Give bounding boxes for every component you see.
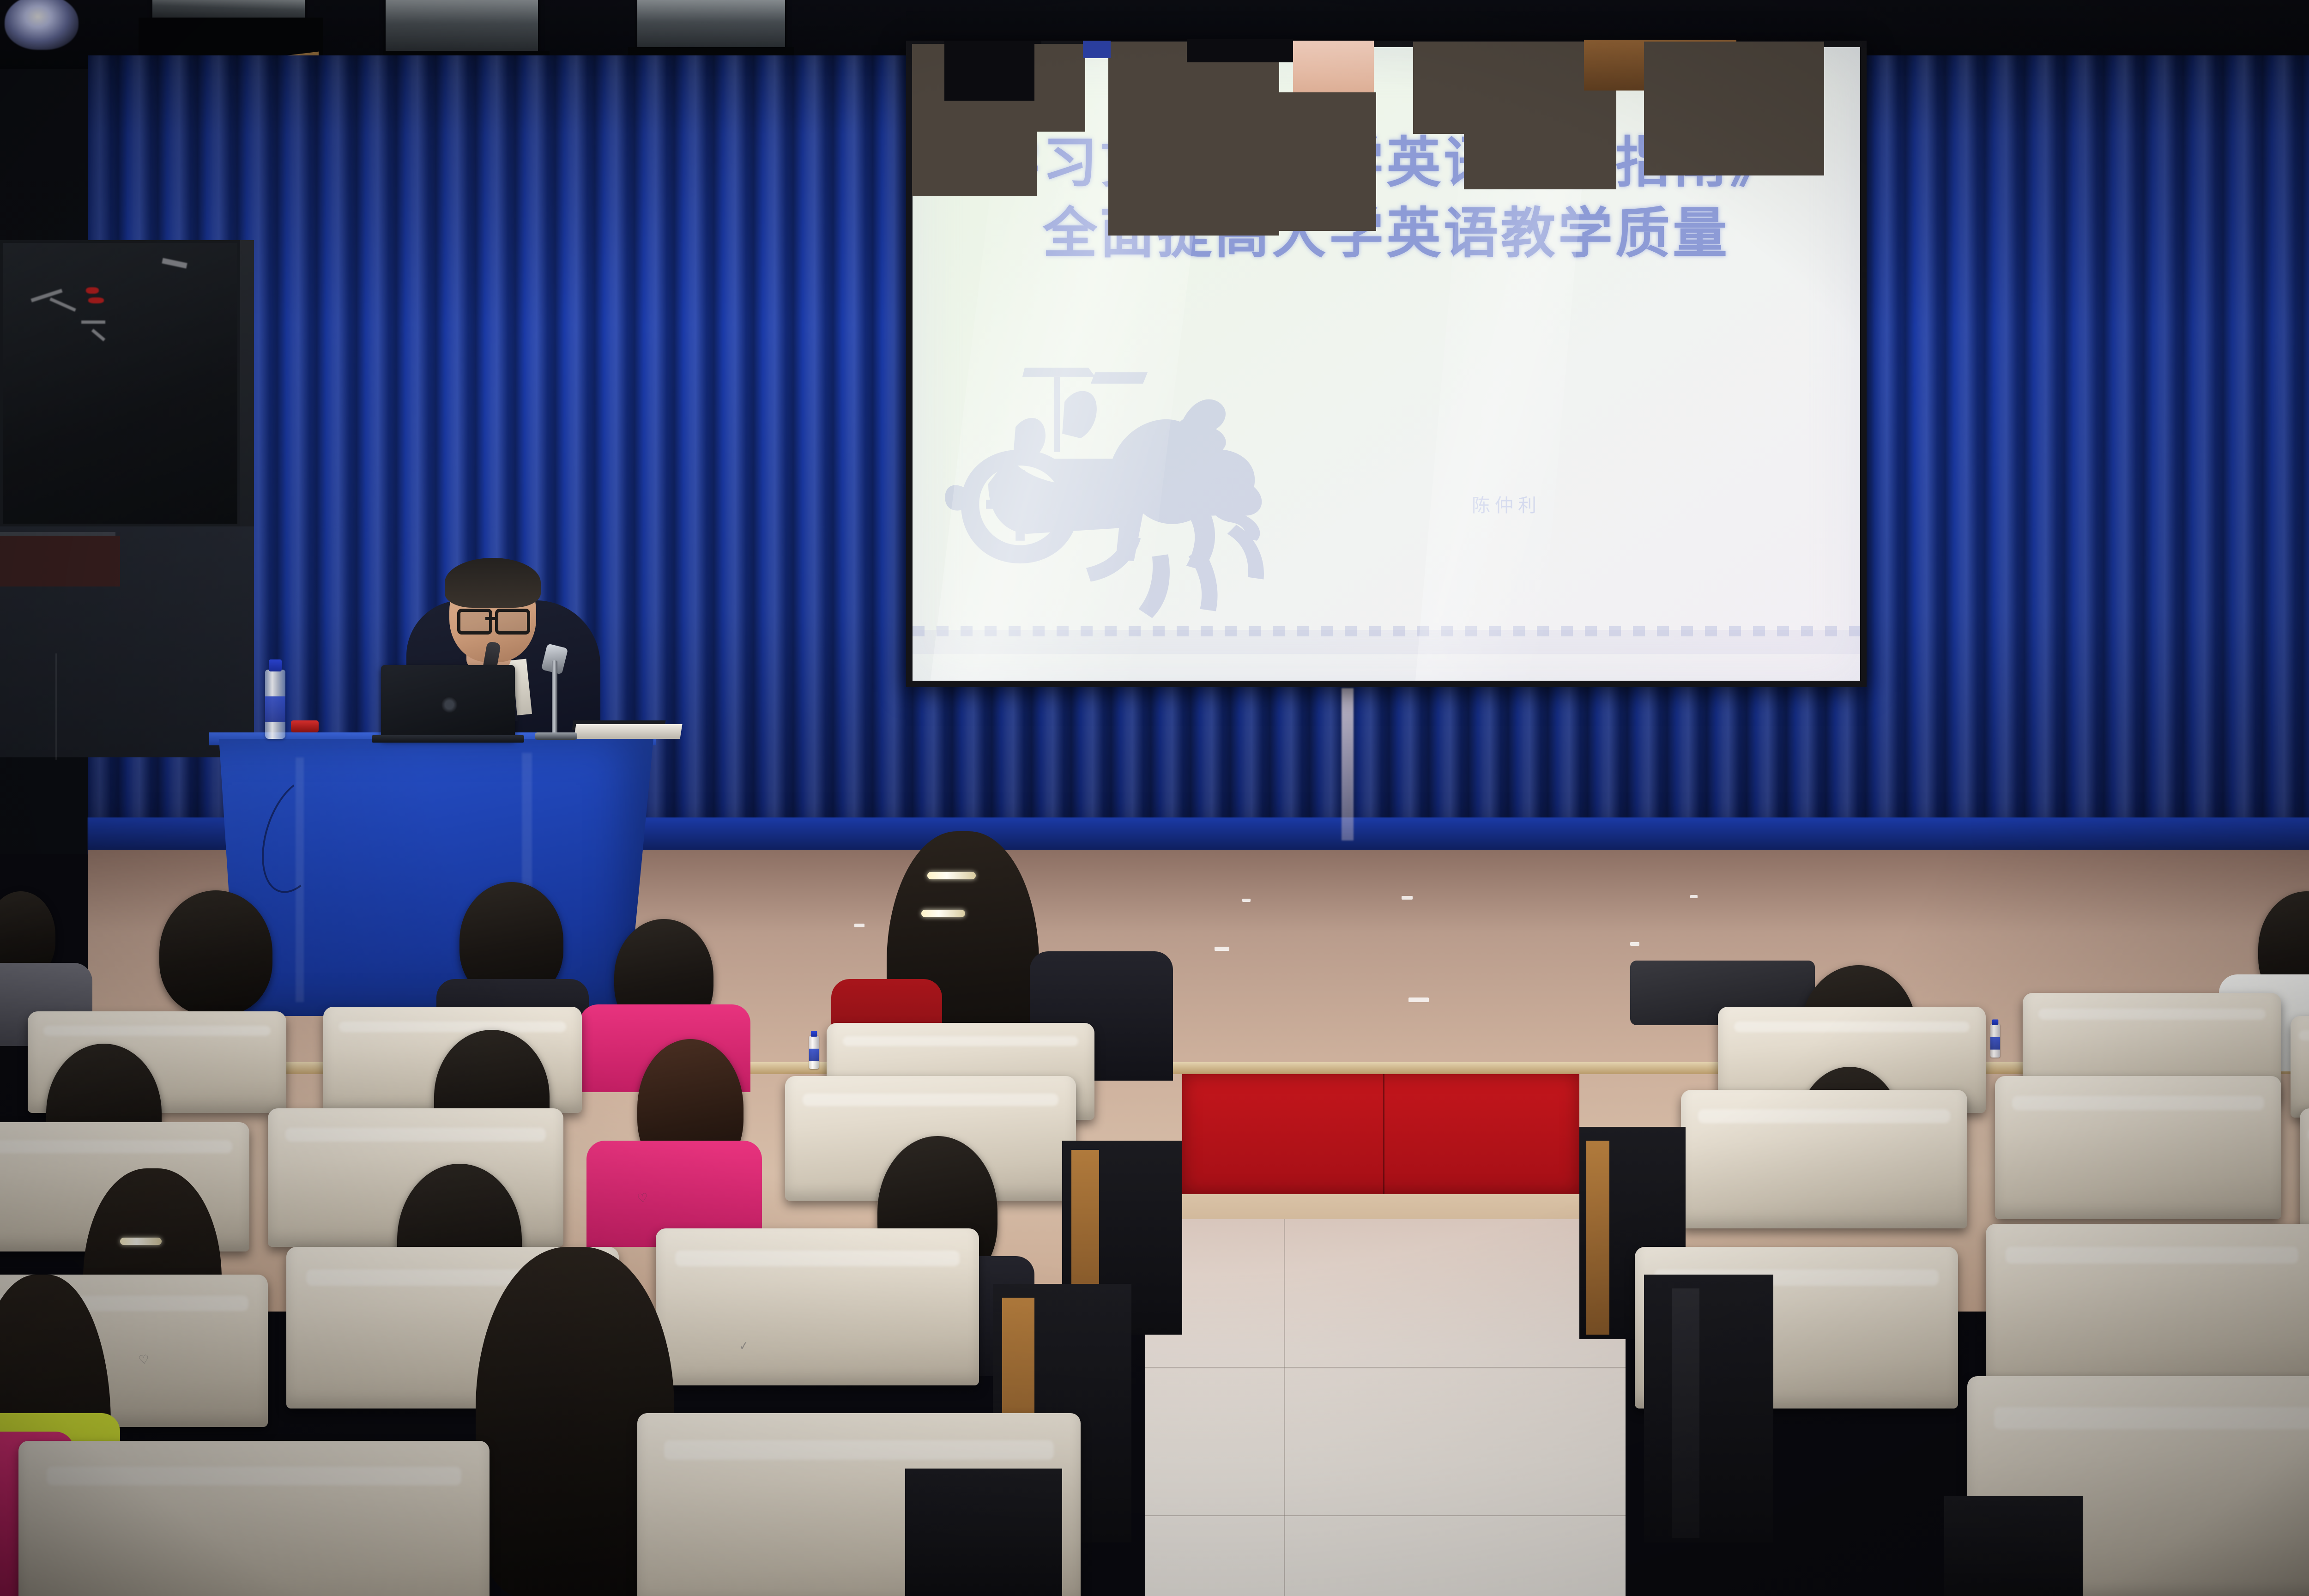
- bottle-cap: [1992, 1019, 1998, 1025]
- hair-clip: [120, 1238, 162, 1245]
- laptop-logo-icon: [441, 696, 458, 713]
- hanging-panel-dark: [944, 41, 1041, 101]
- floor-debris: [1215, 947, 1229, 951]
- lecture-hall-photo: 学习贯彻《大学英语教学指南》 全面提高大学英语教学质量 陈仲利: [0, 0, 2309, 1596]
- monitor-red-mark: [88, 297, 104, 303]
- hanging-light-diffuser: [1293, 41, 1374, 101]
- ceiling-panel: [637, 0, 785, 53]
- audience-head: [159, 890, 272, 1015]
- gooseneck-microphone-base: [535, 732, 577, 740]
- monitor-smudge: [162, 258, 187, 269]
- tile-grout-line: [1145, 1367, 1626, 1368]
- row-desk: [1644, 1275, 1773, 1542]
- ceiling-blue-edge: [1083, 41, 1111, 58]
- ceiling-panel: [386, 0, 538, 56]
- bottle-label: [265, 696, 285, 722]
- gooseneck-microphone-stand: [552, 660, 557, 740]
- auditorium-seat[interactable]: [2291, 1016, 2309, 1118]
- seat-doodle: ✓: [738, 1339, 750, 1354]
- laptop-computer: [381, 665, 515, 739]
- tile-grout-line: [1284, 1219, 1285, 1596]
- hanging-panel-silhouette: [1108, 42, 1279, 236]
- slide-author: 陈仲利: [913, 490, 1860, 517]
- stage-apron-seam: [1383, 1074, 1384, 1194]
- auditorium-seat[interactable]: [1995, 1076, 2281, 1219]
- auditorium-seat[interactable]: [656, 1228, 979, 1385]
- water-bottle: [265, 670, 285, 739]
- floor-debris: [854, 924, 864, 927]
- eyeglasses-icon: [495, 609, 530, 635]
- floor-debris: [1242, 899, 1251, 902]
- laptop-base: [372, 735, 524, 743]
- hanging-panel-dark: [1187, 39, 1293, 62]
- cabinet-highlight: [0, 532, 115, 536]
- screen-bottom-band: [913, 630, 1860, 654]
- seat-doodle: ♡: [138, 1353, 150, 1368]
- monitor-red-mark: [86, 287, 99, 294]
- tile-grout-line: [1145, 1515, 1626, 1516]
- seat-doodle: ♡: [636, 1191, 649, 1206]
- water-bottle: [809, 1036, 819, 1069]
- hanging-panel-silhouette: [1413, 42, 1464, 134]
- cabinet-shelf: [0, 536, 120, 586]
- bottle-cap: [269, 659, 282, 671]
- desk-wood-panel: [1586, 1141, 1609, 1335]
- water-bottle: [1990, 1024, 2000, 1058]
- stage-apron: [1182, 1074, 1579, 1194]
- center-aisle-floor: [1145, 1219, 1626, 1596]
- hanging-panel-silhouette: [1275, 92, 1376, 231]
- presenter-hair: [445, 558, 541, 608]
- hair-clip: [927, 872, 976, 879]
- cabinet-seam: [55, 653, 57, 760]
- eyeglasses-icon: [457, 609, 492, 635]
- monitor-smudge: [81, 320, 105, 324]
- eyeglasses-bridge: [485, 617, 496, 620]
- curtain-gap: [1342, 688, 1354, 840]
- floor-debris: [1630, 942, 1639, 946]
- row-desk: [1944, 1496, 2083, 1596]
- monitor-smudge: [49, 297, 76, 312]
- bottle-cap: [811, 1031, 817, 1036]
- hanging-panel-silhouette: [1034, 44, 1085, 132]
- ceiling-spotlight-icon: [5, 0, 79, 50]
- paper-stack: [574, 724, 682, 739]
- hair-clip: [921, 910, 965, 917]
- row-rail: [1672, 1288, 1699, 1538]
- laser-pointer: [291, 720, 319, 732]
- bottle-label: [1990, 1037, 2000, 1050]
- floor-debris: [1690, 895, 1698, 898]
- auditorium-seat[interactable]: [18, 1441, 490, 1596]
- floor-debris: [1408, 997, 1429, 1002]
- bottle-label: [809, 1049, 819, 1061]
- row-desk: [905, 1469, 1062, 1596]
- auditorium-seat[interactable]: [1986, 1224, 2309, 1390]
- monitor-smudge: [91, 329, 106, 341]
- wall-monitor: [0, 240, 240, 526]
- floor-debris: [1402, 896, 1413, 900]
- hanging-panel-silhouette: [1644, 42, 1824, 175]
- auditorium-seat[interactable]: [1681, 1090, 1967, 1228]
